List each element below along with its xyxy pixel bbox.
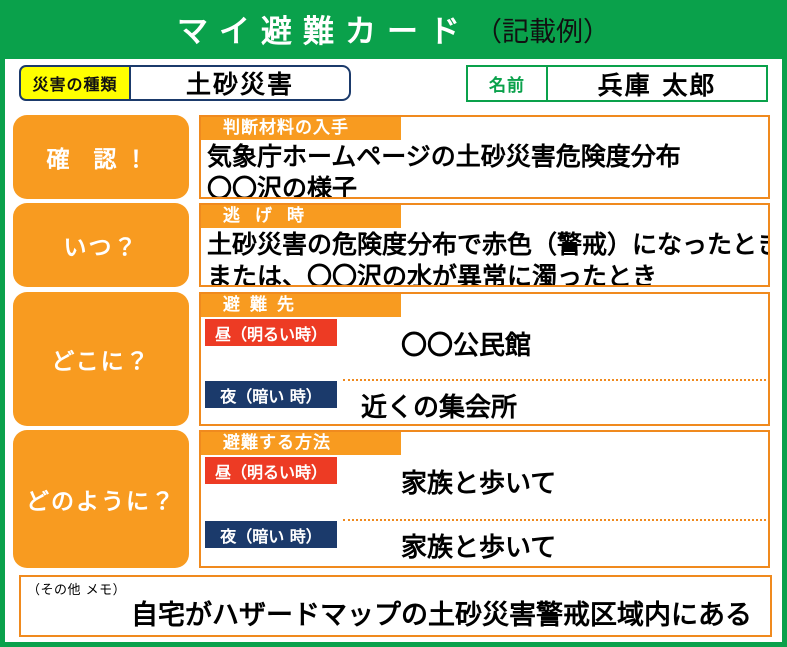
night-chip-how: 夜（暗い 時） [205, 521, 337, 548]
panel-line-1-confirm[interactable]: 気象庁ホームページの土砂災害危険度分布 [201, 140, 768, 172]
disaster-type-value[interactable]: 土砂災害 [131, 65, 351, 101]
name-group: 名前 兵庫 太郎 [466, 65, 768, 102]
memo-box: （その他 メモ） 自宅がハザードマップの土砂災害警戒区域内にある [19, 575, 772, 637]
page-title: マイ避難カード [177, 17, 471, 48]
page-title-note: （記載例） [475, 19, 610, 46]
how-night-row: 夜（暗い 時） 家族と歩いて [201, 519, 768, 568]
panel-header-how: 避難する方法 [201, 432, 401, 455]
section-panel-where: 避難先 昼（明るい時） 〇〇公民館 夜（暗い 時） 近くの集会所 [199, 292, 770, 426]
section-question-how[interactable]: どのように？ [13, 430, 189, 568]
where-night-row: 夜（暗い 時） 近くの集会所 [201, 379, 768, 426]
day-chip-how: 昼（明るい時） [205, 457, 337, 484]
section-question-when[interactable]: いつ？ [13, 203, 189, 287]
card-title-bar: マイ避難カード （記載例） [5, 5, 782, 59]
how-day-row: 昼（明るい時） 家族と歩いて [201, 455, 768, 519]
where-row-divider [343, 379, 766, 381]
day-chip-where: 昼（明るい時） [205, 319, 337, 346]
section-panel-how: 避難する方法 昼（明るい時） 家族と歩いて 夜（暗い 時） 家族と歩いて [199, 430, 770, 568]
night-value-where[interactable]: 近くの集会所 [361, 387, 517, 424]
night-chip-where: 夜（暗い 時） [205, 381, 337, 408]
how-row-divider [343, 519, 766, 521]
section-panel-confirm: 判断材料の入手 気象庁ホームページの土砂災害危険度分布 〇〇沢の様子 [199, 115, 770, 199]
panel-line-2-when[interactable]: または、〇〇沢の水が異常に濁ったとき [201, 260, 768, 287]
disaster-type-label: 災害の種類 [19, 65, 131, 101]
my-evacuation-card: マイ避難カード （記載例） 災害の種類 土砂災害 名前 兵庫 太郎 確 認！ 判… [0, 0, 787, 647]
where-day-row: 昼（明るい時） 〇〇公民館 [201, 317, 768, 379]
section-question-confirm[interactable]: 確 認！ [13, 115, 189, 199]
day-value-where[interactable]: 〇〇公民館 [401, 325, 531, 362]
panel-line-1-when[interactable]: 土砂災害の危険度分布で赤色（警戒）になったとき [201, 228, 768, 260]
night-value-how[interactable]: 家族と歩いて [401, 527, 556, 564]
card-header-row: 災害の種類 土砂災害 名前 兵庫 太郎 [11, 63, 776, 105]
panel-line-2-confirm[interactable]: 〇〇沢の様子 [201, 172, 768, 199]
disaster-type-group: 災害の種類 土砂災害 [19, 65, 351, 101]
panel-header-confirm: 判断材料の入手 [201, 117, 401, 140]
memo-text[interactable]: 自宅がハザードマップの土砂災害警戒区域内にある [131, 593, 752, 632]
panel-header-where: 避難先 [201, 294, 401, 317]
panel-header-when: 逃げ時 [201, 205, 401, 228]
section-question-where[interactable]: どこに？ [13, 292, 189, 426]
day-value-how[interactable]: 家族と歩いて [401, 463, 556, 500]
section-panel-when: 逃げ時 土砂災害の危険度分布で赤色（警戒）になったとき または、〇〇沢の水が異常… [199, 203, 770, 287]
name-label: 名前 [468, 67, 548, 100]
name-value[interactable]: 兵庫 太郎 [548, 67, 766, 100]
memo-label: （その他 メモ） [27, 579, 126, 598]
